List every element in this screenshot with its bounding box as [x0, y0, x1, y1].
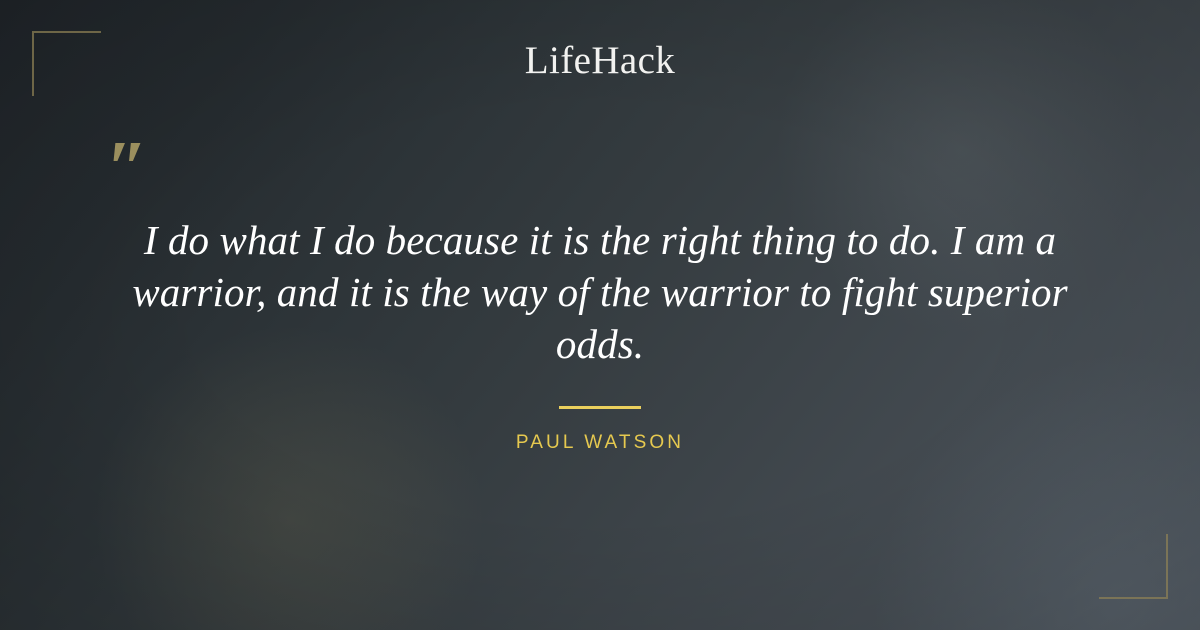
- quote-text: I do what I do because it is the right t…: [100, 138, 1100, 370]
- gold-divider: [559, 406, 641, 409]
- corner-bracket-bottom-right-icon: [1099, 534, 1168, 599]
- quote-author: PAUL WATSON: [100, 432, 1100, 454]
- quote-card: LifeHack ″ I do what I do because it is …: [0, 0, 1200, 630]
- double-quote-icon: ″: [106, 138, 148, 198]
- quote-block: ″ I do what I do because it is the right…: [100, 138, 1100, 454]
- brand-logo: LifeHack: [0, 38, 1200, 84]
